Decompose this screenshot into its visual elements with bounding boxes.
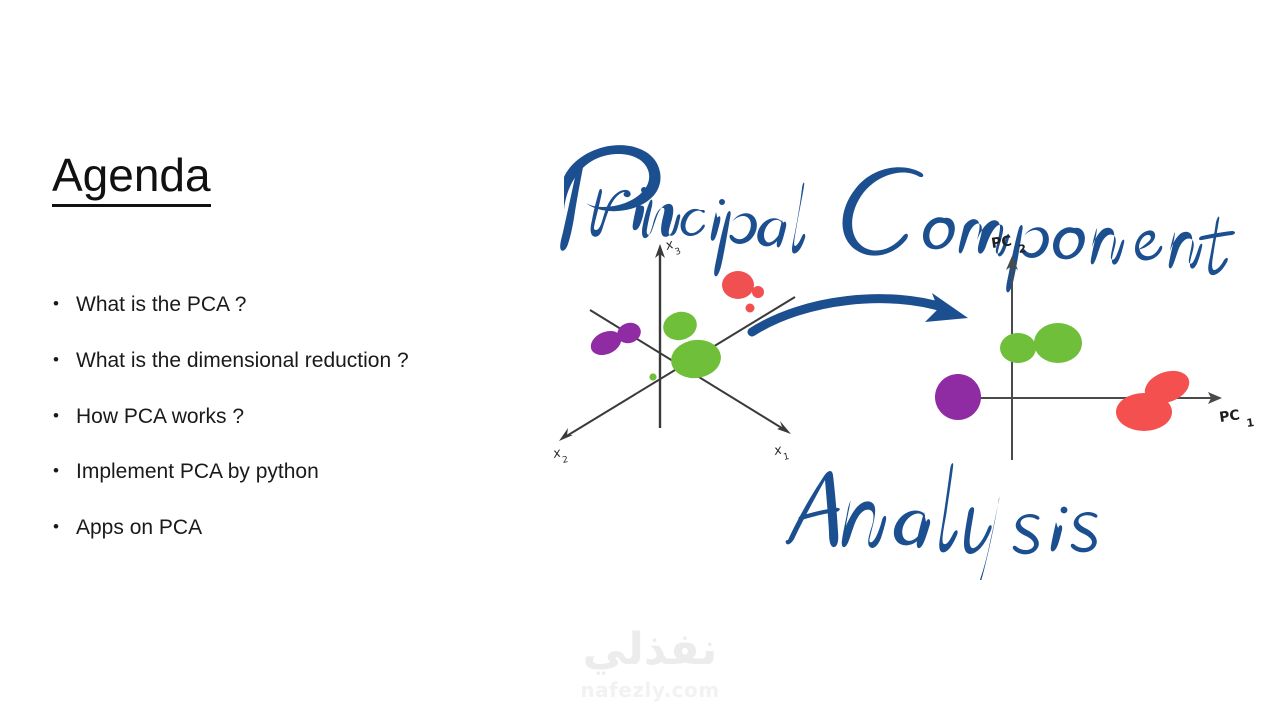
list-item[interactable]: • Implement PCA by python — [48, 459, 528, 485]
left-plot-green-dot — [649, 373, 656, 380]
axis-label-x2-sub: 2 — [562, 455, 570, 466]
axis-label-pc2: PC — [990, 233, 1013, 252]
left-plot-green-blob-2 — [669, 337, 724, 382]
page-title-text: Agenda — [52, 152, 211, 207]
axis-label-pc1: PC — [1218, 407, 1241, 426]
page-title: Agenda — [52, 152, 211, 207]
bullet-icon: • — [48, 515, 76, 540]
original-3d-plot: x 3 x 2 x 1 — [551, 237, 795, 466]
agenda-item-label: What is the PCA ? — [76, 292, 528, 318]
right-plot-red-blob-2 — [1116, 393, 1172, 431]
axis-label-pc1-sub: 1 — [1246, 416, 1255, 430]
list-item[interactable]: • Apps on PCA — [48, 515, 528, 541]
slide-canvas: Agenda • What is the PCA ? • What is the… — [0, 0, 1280, 720]
left-plot-green-blob-1 — [660, 308, 700, 344]
bullet-icon: • — [48, 348, 76, 373]
agenda-item-label: Implement PCA by python — [76, 459, 528, 485]
bullet-icon: • — [48, 404, 76, 429]
right-plot-green-blob-1 — [1000, 333, 1036, 363]
left-plot-red-dot-1 — [752, 286, 764, 298]
watermark-arabic-text: نفذلي — [540, 628, 760, 672]
axis-label-x3-sub: 3 — [674, 247, 683, 258]
list-item[interactable]: • What is the PCA ? — [48, 292, 528, 318]
right-plot-purple-blob — [935, 374, 981, 420]
list-item[interactable]: • How PCA works ? — [48, 404, 528, 430]
right-plot-green-blob-2 — [1034, 323, 1082, 363]
list-item[interactable]: • What is the dimensional reduction ? — [48, 348, 528, 374]
watermark: نفذلي nafezly.com — [540, 628, 760, 720]
agenda-item-label: Apps on PCA — [76, 515, 528, 541]
bullet-icon: • — [48, 292, 76, 317]
illustration-heading-line2 — [786, 463, 1098, 580]
left-plot-red-dot-2 — [746, 304, 755, 313]
axis-label-pc2-sub: 2 — [1018, 242, 1027, 256]
pca-illustration: x 3 x 2 x 1 — [540, 110, 1280, 580]
agenda-list: • What is the PCA ? • What is the dimens… — [48, 292, 528, 571]
axis-label-x2: x — [551, 446, 563, 463]
watermark-domain-text: nafezly.com — [540, 680, 760, 700]
bullet-icon: • — [48, 459, 76, 484]
left-plot-red-blob-1 — [722, 271, 754, 299]
axis-label-x1: x — [772, 443, 784, 460]
agenda-column: Agenda • What is the PCA ? • What is the… — [0, 0, 540, 720]
agenda-item-label: What is the dimensional reduction ? — [76, 348, 528, 374]
axis-label-x1-sub: 1 — [783, 452, 791, 463]
transform-arrow — [752, 293, 968, 332]
illustration-heading-line1 — [560, 145, 1235, 292]
agenda-item-label: How PCA works ? — [76, 404, 528, 430]
pca-projected-plot: PC 2 PC 1 — [935, 233, 1255, 460]
